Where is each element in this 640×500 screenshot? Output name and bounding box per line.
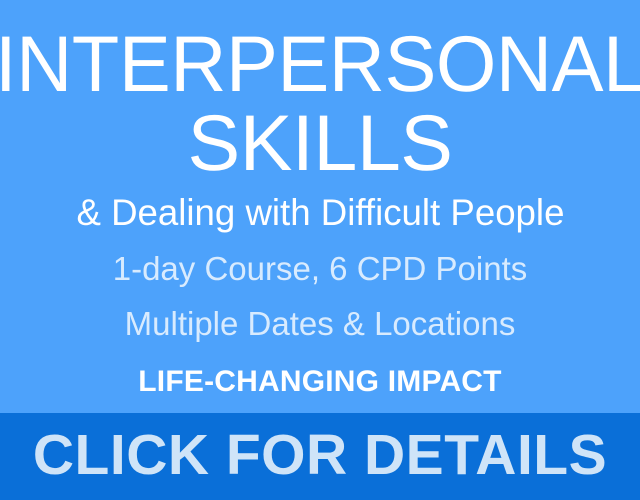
cta-button-label: CLICK FOR DETAILS (33, 427, 607, 484)
banner-tagline: LIFE-CHANGING IMPACT (138, 367, 501, 397)
headline-line-2: SKILLS (188, 105, 453, 180)
advertisement-banner[interactable]: INTERPERSONAL SKILLS & Dealing with Diff… (0, 0, 640, 500)
cta-button[interactable]: CLICK FOR DETAILS (0, 413, 640, 500)
banner-content: INTERPERSONAL SKILLS & Dealing with Diff… (0, 0, 640, 413)
course-detail-dates: Multiple Dates & Locations (125, 307, 516, 340)
course-detail-duration: 1-day Course, 6 CPD Points (113, 252, 528, 285)
banner-subtitle: & Dealing with Difficult People (76, 194, 564, 233)
headline-line-1: INTERPERSONAL (0, 26, 640, 101)
